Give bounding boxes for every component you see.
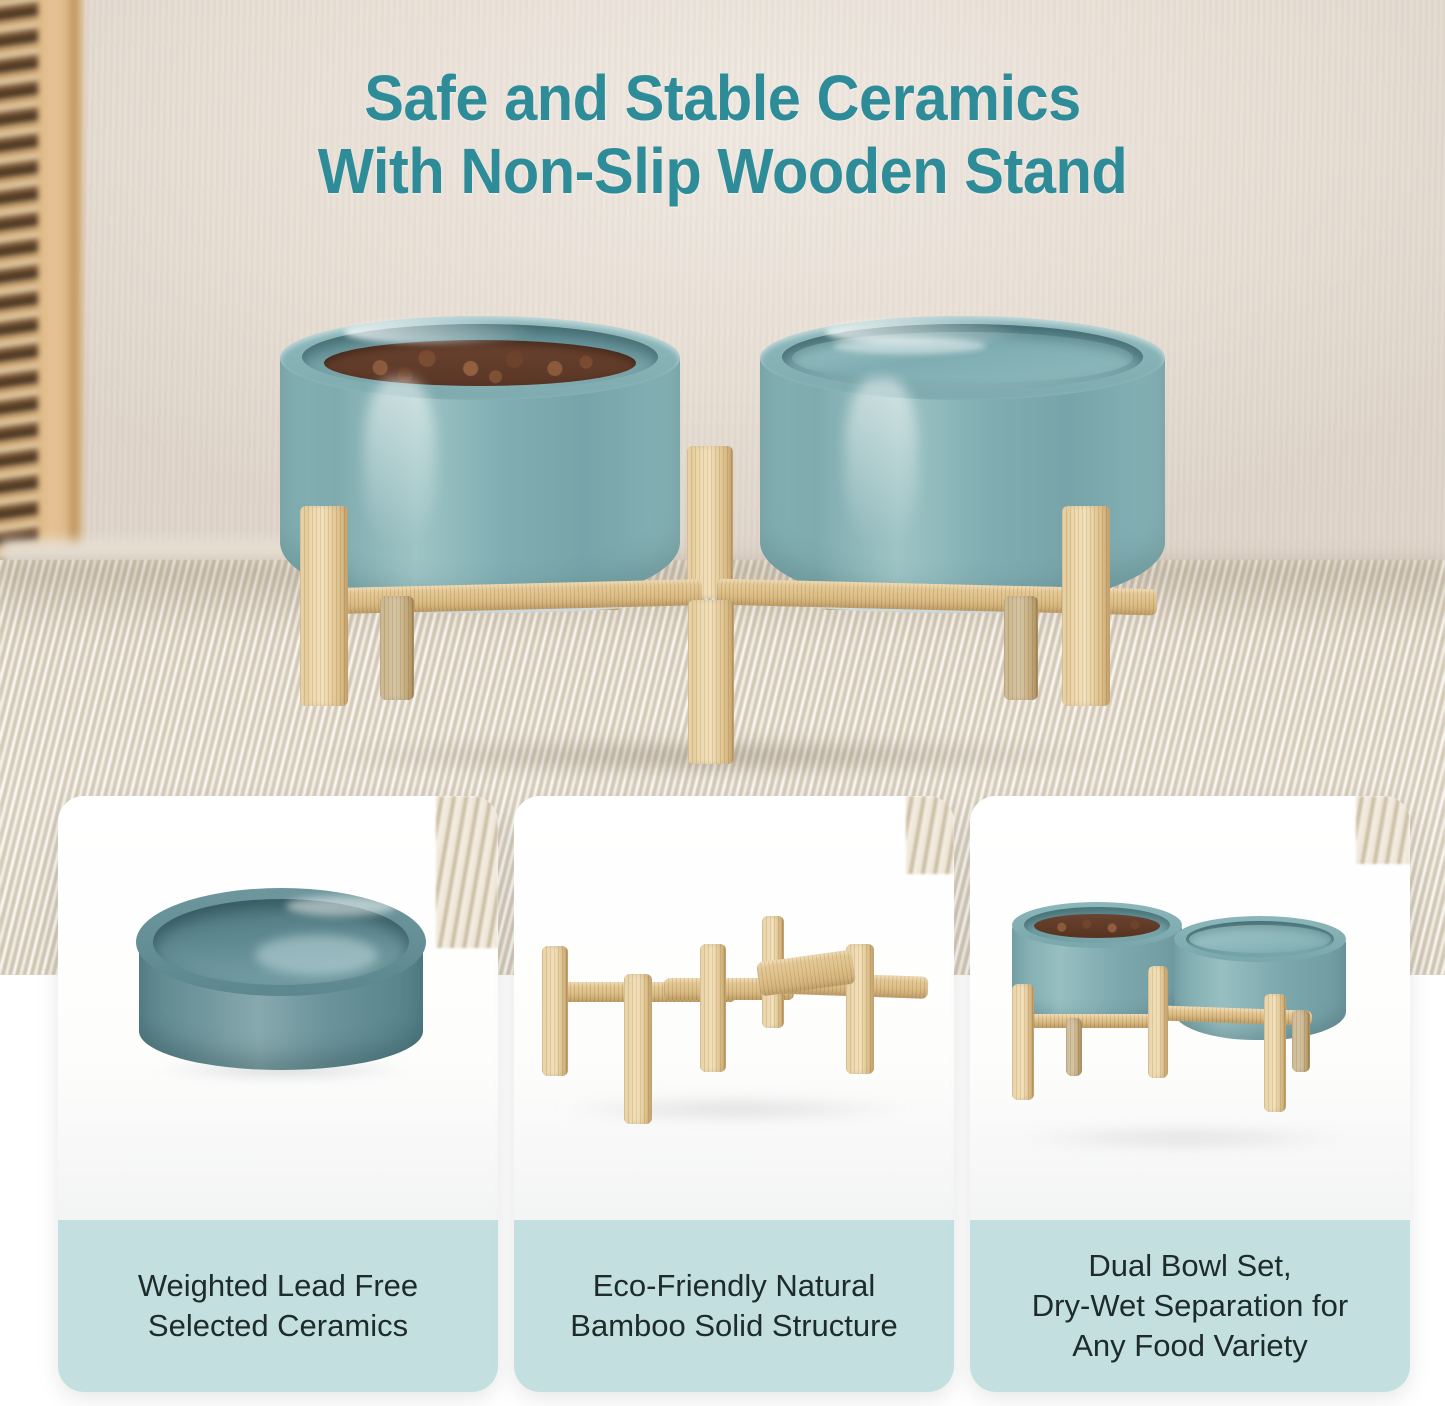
water-bowl-gloss xyxy=(825,320,1019,344)
card-bamboo-caption: Eco-Friendly Natural Bamboo Solid Struct… xyxy=(514,1220,954,1392)
title-line-2: With Non-Slip Wooden Stand xyxy=(51,135,1395,208)
mini-stand-post-2 xyxy=(1148,966,1168,1078)
stand-leg-back-right xyxy=(1004,596,1038,700)
ceramic-bowl xyxy=(136,888,426,1078)
dual-bowl-set xyxy=(992,888,1392,1148)
page-title: Safe and Stable Ceramics With Non-Slip W… xyxy=(51,62,1395,208)
stand-post-1 xyxy=(542,946,568,1076)
picture-frame-artwork xyxy=(0,0,38,575)
mini-stand-post-1 xyxy=(1012,984,1034,1100)
rug-peek xyxy=(436,796,498,948)
mini-stand-post-back-1 xyxy=(1066,1018,1082,1076)
mini-stand-post-back-2 xyxy=(1292,1010,1310,1072)
card-ceramics-photo xyxy=(58,796,498,1220)
title-line-1: Safe and Stable Ceramics xyxy=(364,62,1081,134)
rug-peek xyxy=(1356,796,1410,864)
stand-post-3 xyxy=(700,944,726,1072)
card-bamboo-caption-text: Eco-Friendly Natural Bamboo Solid Struct… xyxy=(570,1266,897,1345)
stand-post-2 xyxy=(624,974,652,1124)
stand-leg-front-right xyxy=(1062,506,1110,706)
feature-cards: Weighted Lead Free Selected Ceramics Eco… xyxy=(0,796,1445,1406)
mini-water-contents xyxy=(1189,925,1330,953)
feature-card-bamboo-stand[interactable]: Eco-Friendly Natural Bamboo Solid Struct… xyxy=(514,796,954,1392)
mini-stand-rail-left xyxy=(1014,1014,1164,1028)
food-bowl-gloss xyxy=(344,320,536,344)
card-dual-set-caption-text: Dual Bowl Set, Dry-Wet Separation for An… xyxy=(1032,1246,1348,1365)
kibble-food xyxy=(324,340,636,386)
stand-leg-front-center xyxy=(688,600,734,764)
card-ceramics-caption-text: Weighted Lead Free Selected Ceramics xyxy=(138,1266,418,1345)
bamboo-stand xyxy=(536,896,934,1126)
card-bamboo-photo xyxy=(514,796,954,1220)
card-dual-set-photo xyxy=(970,796,1410,1220)
mini-stand-post-3 xyxy=(1264,994,1286,1112)
stand-leg-front-left xyxy=(300,506,348,706)
mini-kibble-food xyxy=(1034,914,1160,938)
food-bowl-side-highlight xyxy=(364,378,436,547)
stand-leg-back-left xyxy=(380,596,414,700)
ceramic-bowl-gloss xyxy=(286,896,396,916)
water-bowl-side-highlight xyxy=(845,378,918,547)
feature-card-ceramics[interactable]: Weighted Lead Free Selected Ceramics xyxy=(58,796,498,1392)
rug-peek xyxy=(906,796,954,874)
feature-card-dual-bowl-set[interactable]: Dual Bowl Set, Dry-Wet Separation for An… xyxy=(970,796,1410,1392)
card-dual-set-caption: Dual Bowl Set, Dry-Wet Separation for An… xyxy=(970,1220,1410,1392)
card-ceramics-caption: Weighted Lead Free Selected Ceramics xyxy=(58,1220,498,1392)
stand-center-post-top xyxy=(687,446,733,598)
hero-product-assembly xyxy=(262,300,1192,780)
